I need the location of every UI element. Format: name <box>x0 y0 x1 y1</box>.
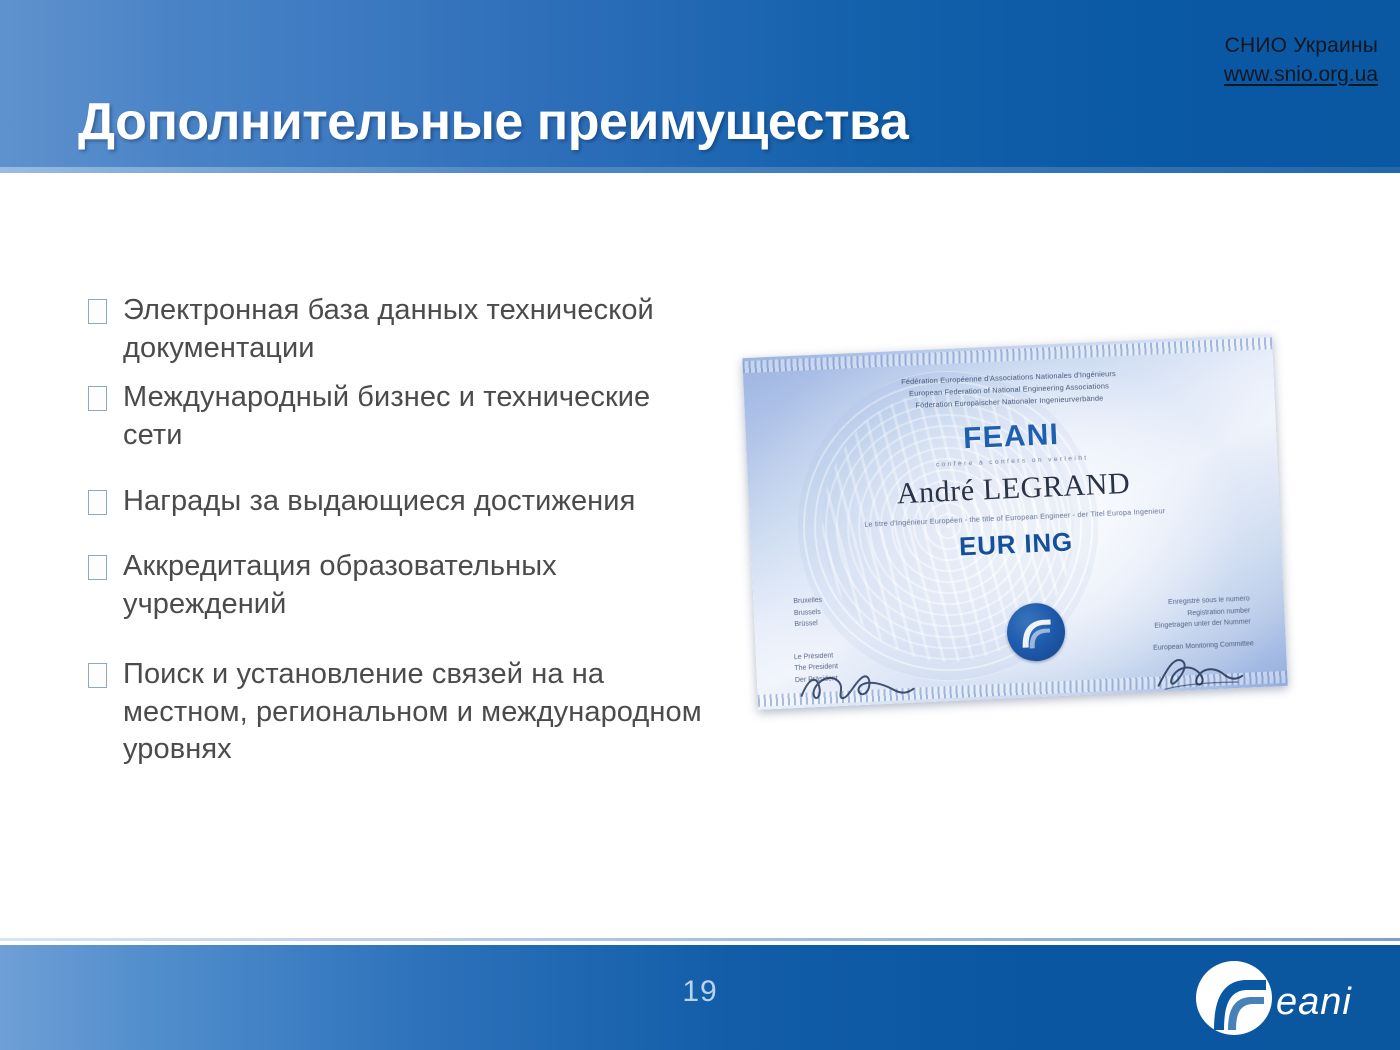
list-item-label: Электронная база данных технической доку… <box>123 292 708 367</box>
certificate-committee-label: European Monitoring Committee <box>1153 640 1254 652</box>
empty-box-bullet-icon <box>88 299 107 324</box>
list-item-label: Награды за выдающиеся достижения <box>123 483 708 521</box>
svg-text:eani: eani <box>1276 981 1352 1023</box>
feani-certificate: Fédération Européenne d'Associations Nat… <box>742 334 1287 710</box>
page-number: 19 <box>0 975 1400 1009</box>
certificate-image: Fédération Européenne d'Associations Nat… <box>742 328 1290 720</box>
certificate-president-lines: Le Président The President Der Präsident <box>794 650 839 686</box>
empty-box-bullet-icon <box>88 490 107 515</box>
list-item: Поиск и установление связей на на местно… <box>88 656 708 769</box>
list-item: Международный бизнес и технические сети <box>88 379 708 454</box>
feani-logo: eani <box>1192 960 1382 1036</box>
spacer <box>88 461 708 483</box>
list-item: Электронная база данных технической доку… <box>88 292 708 367</box>
page-title: Дополнительные преимущества <box>78 92 908 152</box>
organization-name: СНИО Украины <box>1224 32 1378 61</box>
empty-box-bullet-icon <box>88 386 107 411</box>
list-item: Аккредитация образовательных учреждений <box>88 548 708 623</box>
header-divider <box>0 167 1400 173</box>
empty-box-bullet-icon <box>88 663 107 688</box>
spacer <box>88 630 708 656</box>
feani-seal-icon <box>1006 602 1067 663</box>
list-item-label: Аккредитация образовательных учреждений <box>123 548 708 623</box>
empty-box-bullet-icon <box>88 555 107 580</box>
organization-url-link[interactable]: www.snio.org.ua <box>1224 61 1378 90</box>
spacer <box>88 526 708 548</box>
certificate-registration-lines: Enregistré sous le numéro Registration n… <box>1153 593 1251 632</box>
bullet-list: Электронная база данных технической доку… <box>88 292 708 775</box>
list-item-label: Поиск и установление связей на на местно… <box>123 656 708 769</box>
list-item: Награды за выдающиеся достижения <box>88 483 708 521</box>
organization-block: СНИО Украины www.snio.org.ua <box>1224 32 1378 89</box>
footer-divider <box>0 938 1400 941</box>
list-item-label: Международный бизнес и технические сети <box>123 379 708 454</box>
certificate-place-lines: Bruxelles Brussels Brüssel <box>793 595 823 631</box>
